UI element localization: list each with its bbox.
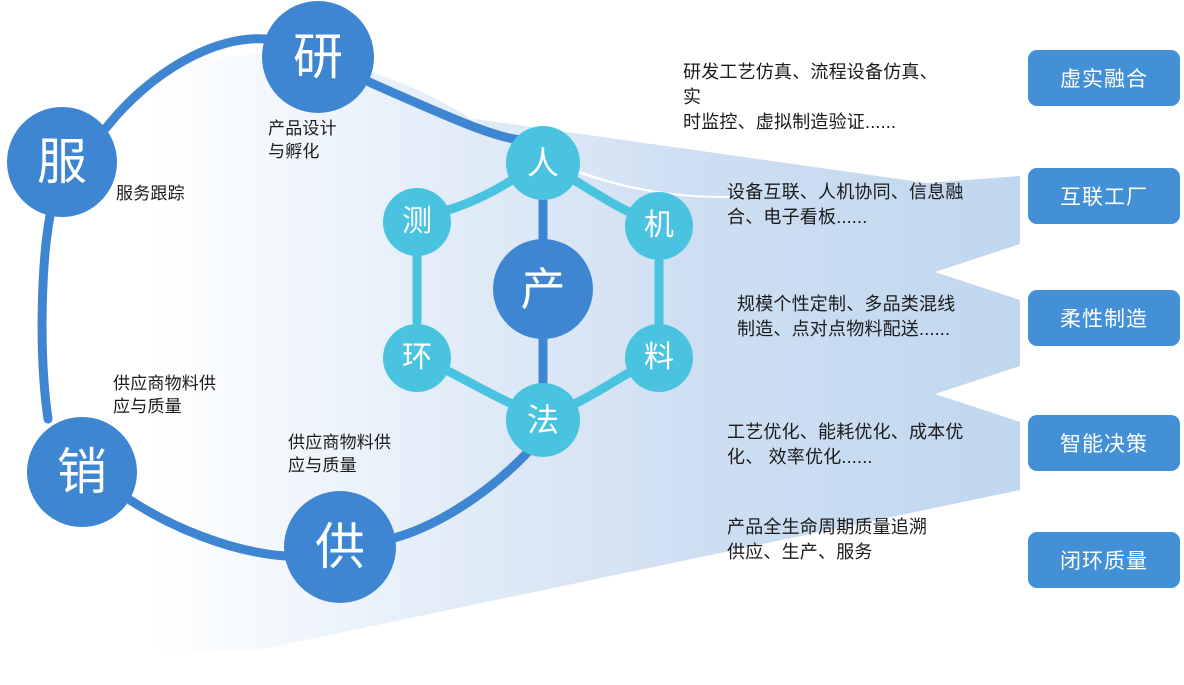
inner-node-fa-label: 法 (527, 404, 559, 436)
diagram-canvas: 研 服 销 供 人 机 料 法 环 测 产 产品设计 与孵化 服务跟踪 供应商物… (0, 0, 1184, 685)
center-node-chan-label: 产 (520, 267, 565, 312)
center-node-chan[interactable]: 产 (493, 239, 593, 339)
inner-node-ce-label: 测 (402, 207, 432, 237)
inner-node-ren-label: 人 (527, 147, 559, 179)
outer-node-xiao[interactable]: 销 (27, 417, 137, 527)
capability-description-intelligent-decision: 工艺优化、能耗优化、成本优 化、 效率优化...... (727, 420, 999, 470)
outer-node-xiao-label: 销 (57, 447, 107, 497)
inner-node-ji-label: 机 (644, 211, 674, 241)
capability-description-virtual-real-fusion: 研发工艺仿真、流程设备仿真、实 时监控、虚拟制造验证...... (683, 60, 953, 134)
outer-node-gong-label: 供 (315, 522, 365, 572)
inner-node-liao[interactable]: 料 (625, 324, 693, 392)
inner-node-huan[interactable]: 环 (383, 324, 451, 392)
annotation-supplier-material-left: 供应商物料供 应与质量 (113, 373, 216, 419)
diagram-artwork (0, 0, 1184, 685)
inner-node-ji[interactable]: 机 (625, 192, 693, 260)
inner-node-ce[interactable]: 测 (383, 188, 451, 256)
capability-description-closed-loop-quality: 产品全生命周期质量追溯 供应、生产、服务 (727, 515, 999, 565)
outer-node-yan-label: 研 (293, 32, 343, 82)
capability-badge-connected-factory[interactable]: 互联工厂 (1028, 168, 1180, 224)
capability-description-connected-factory: 设备互联、人机协同、信息融 合、电子看板...... (727, 180, 989, 230)
outer-node-gong[interactable]: 供 (284, 491, 396, 603)
annotation-supplier-material-right: 供应商物料供 应与质量 (288, 432, 391, 478)
outer-node-fu-label: 服 (37, 137, 87, 187)
annotation-service-tracking: 服务跟踪 (116, 183, 185, 206)
outer-node-yan[interactable]: 研 (262, 1, 374, 113)
capability-badge-intelligent-decision[interactable]: 智能决策 (1028, 415, 1180, 471)
capability-badge-closed-loop-quality[interactable]: 闭环质量 (1028, 532, 1180, 588)
outer-node-fu[interactable]: 服 (7, 107, 117, 217)
inner-node-huan-label: 环 (402, 343, 432, 373)
inner-node-ren[interactable]: 人 (506, 126, 580, 200)
capability-badge-flexible-manufacturing[interactable]: 柔性制造 (1028, 290, 1180, 346)
inner-node-fa[interactable]: 法 (506, 383, 580, 457)
capability-description-flexible-manufacturing: 规模个性定制、多品类混线 制造、点对点物料配送...... (737, 292, 1009, 342)
inner-node-liao-label: 料 (644, 343, 674, 373)
annotation-product-design: 产品设计 与孵化 (268, 118, 337, 164)
capability-badge-virtual-real-fusion[interactable]: 虚实融合 (1028, 50, 1180, 106)
